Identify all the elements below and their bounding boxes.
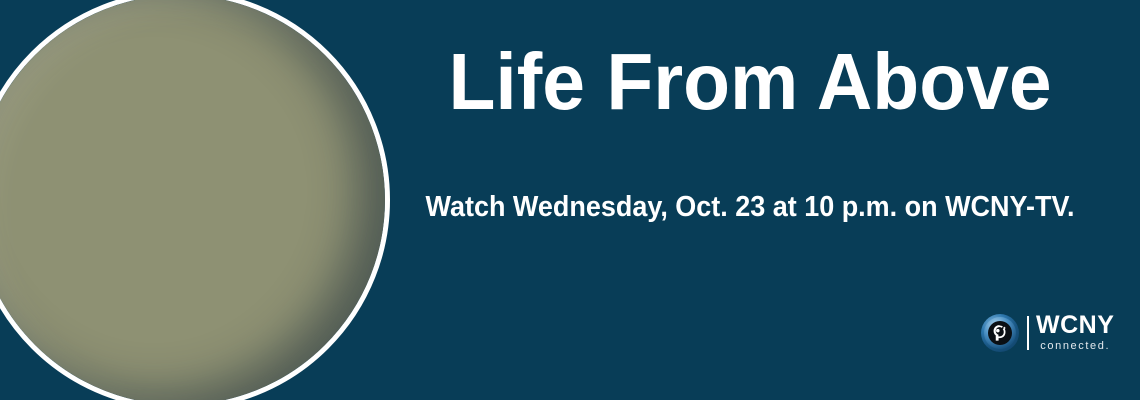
logo-divider [1027, 316, 1029, 350]
broadcast-schedule-text: Watch Wednesday, Oct. 23 at 10 p.m. on W… [425, 192, 1076, 224]
pbs-p-head-icon [981, 314, 1019, 352]
logo-station-callsign: WCNY [1036, 313, 1114, 338]
wcny-logo[interactable]: WCNY connected. [981, 310, 1114, 356]
earth-globe-image [0, 0, 390, 400]
promo-banner: Life From Above Watch Wednesday, Oct. 23… [0, 0, 1140, 400]
logo-tagline: connected. [1036, 340, 1114, 353]
pbs-head-profile-icon [990, 323, 1010, 343]
earth-globe-texture [0, 0, 385, 400]
logo-text-group: WCNY connected. [1036, 313, 1114, 353]
pbs-head-inner-circle [988, 321, 1012, 345]
page-title: Life From Above [414, 42, 1086, 122]
